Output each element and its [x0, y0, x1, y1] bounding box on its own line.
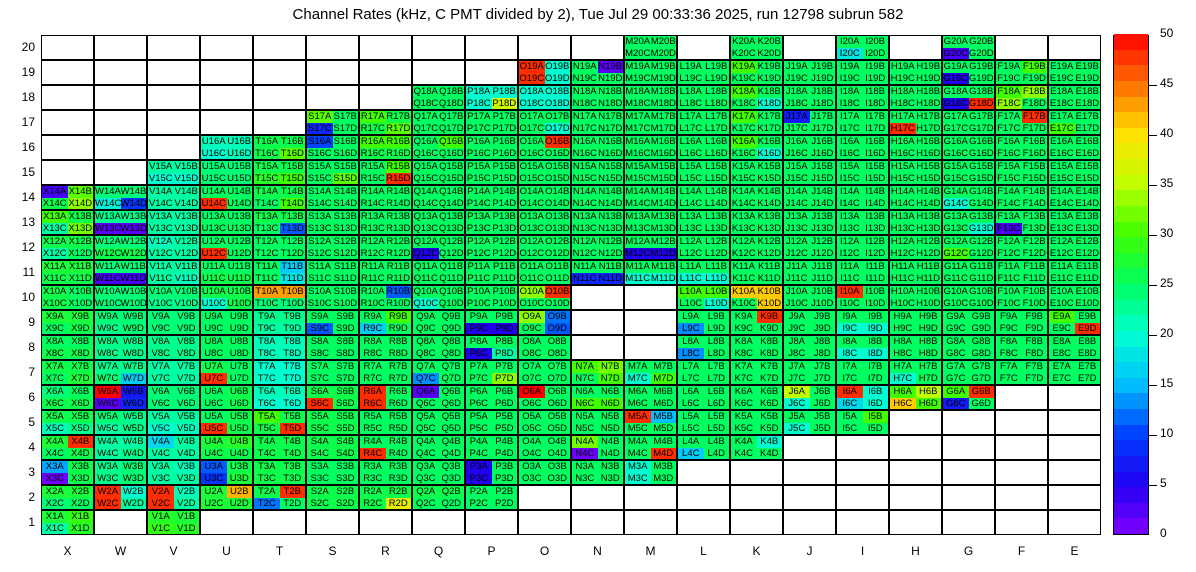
channel-Q4B: Q4B [439, 436, 465, 448]
channel-O17A: O17A [519, 111, 545, 123]
module-cell-empty [730, 460, 783, 485]
channel-Q5C: Q5C [413, 423, 439, 435]
module-cell: T13AT13BT13CT13D [253, 210, 306, 235]
channel-N17A: N17A [572, 111, 598, 123]
channel-T13C: T13C [254, 223, 280, 235]
channel-F9D: F9D [1022, 323, 1048, 335]
channel-R5B: R5B [386, 411, 412, 423]
channel-M18B: M18B [651, 86, 677, 98]
channel-K12B: K12B [757, 236, 783, 248]
channel-S14D: S14D [333, 198, 359, 210]
channel-P18A: P18A [466, 86, 492, 98]
module-cell-empty [836, 460, 889, 485]
channel-T3D: T3D [280, 473, 306, 485]
channel-K8D: K8D [757, 348, 783, 360]
channel-M3A: M3A [625, 461, 651, 473]
channel-K11B: K11B [757, 261, 783, 273]
channel-J9D: J9D [810, 323, 836, 335]
channel-R11D: R11D [386, 273, 412, 285]
module-cell: E8AE8BE8CE8D [1048, 335, 1101, 360]
channel-V9D: V9D [174, 323, 200, 335]
module-cell: M12AM12BM12CM12D [624, 235, 677, 260]
channel-H13B: H13B [916, 211, 942, 223]
module-cell: S2AS2BS2CS2D [306, 485, 359, 510]
channel-P5B: P5B [492, 411, 518, 423]
module-cell-empty [942, 435, 995, 460]
channel-V8B: V8B [174, 336, 200, 348]
channel-V10B: V10B [174, 286, 200, 298]
module-cell: F8AF8BF8CF8D [995, 335, 1048, 360]
channel-P2A: P2A [466, 486, 492, 498]
channel-P7D: P7D [492, 373, 518, 385]
channel-G18D: G18D [969, 98, 995, 110]
module-cell: F16AF16BF16CF16D [995, 135, 1048, 160]
module-cell: I13AI13BI13CI13D [836, 210, 889, 235]
channel-L17A: L17A [678, 111, 704, 123]
channel-L16D: L16D [704, 148, 730, 160]
y-axis-label: 7 [5, 365, 35, 379]
channel-M12C: M12C [625, 248, 651, 260]
channel-L9A: L9A [678, 311, 704, 323]
channel-M18D: M18D [651, 98, 677, 110]
module-cell: H17AH17BH17CH17D [889, 110, 942, 135]
channel-V9A: V9A [148, 311, 174, 323]
module-cell: N5AN5BN5CN5D [571, 410, 624, 435]
channel-E14C: E14C [1049, 198, 1075, 210]
channel-O12C: O12C [519, 248, 545, 260]
module-cell: N11AN11BN11CN11D [571, 260, 624, 285]
x-axis-label: H [889, 544, 942, 558]
channel-W12B: W12B [121, 236, 147, 248]
channel-V7B: V7B [174, 361, 200, 373]
channel-V11D: V11D [174, 273, 200, 285]
channel-T7C: T7C [254, 373, 280, 385]
channel-V1D: V1D [174, 523, 200, 535]
channel-K7A: K7A [731, 361, 757, 373]
module-cell: F19AF19BF19CF19D [995, 60, 1048, 85]
channel-J6C: J6C [784, 398, 810, 410]
channel-P6C: P6C [466, 398, 492, 410]
channel-I14A: I14A [837, 186, 863, 198]
module-cell-empty [942, 410, 995, 435]
module-cell: M14AM14BM14CM14D [624, 185, 677, 210]
channel-V1A: V1A [148, 511, 174, 523]
channel-T12D: T12D [280, 248, 306, 260]
channel-P17C: P17C [466, 123, 492, 135]
channel-U4B: U4B [227, 436, 253, 448]
channel-V10D: V10D [174, 298, 200, 310]
channel-S6D: S6D [333, 398, 359, 410]
channel-H11C: H11C [890, 273, 916, 285]
module-cell: E7AE7BE7CE7D [1048, 360, 1101, 385]
module-cell-empty [889, 510, 942, 535]
module-cell: L8AL8BL8CL8D [677, 335, 730, 360]
channel-U15A: U15A [201, 161, 227, 173]
channel-W8B: W8B [121, 336, 147, 348]
channel-K17B: K17B [757, 111, 783, 123]
channel-X2C: X2C [42, 498, 68, 510]
channel-J6B: J6B [810, 386, 836, 398]
channel-T2C: T2C [254, 498, 280, 510]
channel-N5C: N5C [572, 423, 598, 435]
module-cell: R16AR16BR16CR16D [359, 135, 412, 160]
channel-H10B: H10B [916, 286, 942, 298]
y-axis-label: 11 [5, 265, 35, 279]
channel-Q6C: Q6C [413, 398, 439, 410]
module-cell-empty [571, 310, 624, 335]
module-cell: I18AI18BI18CI18D [836, 85, 889, 110]
channel-M13A: M13A [625, 211, 651, 223]
channel-M19A: M19A [625, 61, 651, 73]
module-cell: U3AU3BU3CU3D [200, 460, 253, 485]
channel-F14D: F14D [1022, 198, 1048, 210]
channel-O8A: O8A [519, 336, 545, 348]
channel-N16B: N16B [598, 136, 624, 148]
channel-T5B: T5B [280, 411, 306, 423]
channel-M14C: M14C [625, 198, 651, 210]
channel-Q18D: Q18D [439, 98, 465, 110]
module-cell: O5AO5BO5CO5D [518, 410, 571, 435]
channel-J16D: J16D [810, 148, 836, 160]
module-cell-empty [465, 60, 518, 85]
channel-T4D: T4D [280, 448, 306, 460]
channel-Q16A: Q16A [413, 136, 439, 148]
channel-S16A: S16A [307, 136, 333, 148]
channel-X2B: X2B [68, 486, 94, 498]
module-cell-empty [677, 485, 730, 510]
module-cell: I9AI9BI9CI9D [836, 310, 889, 335]
channel-X5A: X5A [42, 411, 68, 423]
module-cell-empty [94, 135, 147, 160]
channel-S4A: S4A [307, 436, 333, 448]
channel-M5A: M5A [625, 411, 651, 423]
channel-T4C: T4C [254, 448, 280, 460]
module-cell-empty [41, 35, 94, 60]
channel-E14A: E14A [1049, 186, 1075, 198]
channel-E15C: E15C [1049, 173, 1075, 185]
channel-V10A: V10A [148, 286, 174, 298]
module-cell-empty [412, 35, 465, 60]
channel-I16A: I16A [837, 136, 863, 148]
module-cell: W13AW13BW13CW13D [94, 210, 147, 235]
channel-I10A: I10A [837, 286, 863, 298]
channel-M18C: M18C [625, 98, 651, 110]
channel-I18B: I18B [863, 86, 889, 98]
channel-P18B: P18B [492, 86, 518, 98]
channel-X7D: X7D [68, 373, 94, 385]
channel-F18D: F18D [1022, 98, 1048, 110]
module-cell: I20AI20BI20CI20D [836, 35, 889, 60]
channel-O3A: O3A [519, 461, 545, 473]
channel-I8D: I8D [863, 348, 889, 360]
channel-G10B: G10B [969, 286, 995, 298]
x-axis-label: Q [412, 544, 465, 558]
channel-H19B: H19B [916, 61, 942, 73]
module-cell: X2AX2BX2CX2D [41, 485, 94, 510]
channel-I17D: I17D [863, 123, 889, 135]
channel-N12B: N12B [598, 236, 624, 248]
channel-K15C: K15C [731, 173, 757, 185]
channel-R15B: R15B [386, 161, 412, 173]
channel-W14D: W14D [121, 198, 147, 210]
page-title: Channel Rates (kHz, C PMT divided by 2),… [0, 6, 1196, 23]
channel-R12A: R12A [360, 236, 386, 248]
channel-X1D: X1D [68, 523, 94, 535]
channel-J17C: J17C [784, 123, 810, 135]
module-cell: T8AT8BT8CT8D [253, 335, 306, 360]
channel-L7A: L7A [678, 361, 704, 373]
channel-O12D: O12D [545, 248, 571, 260]
channel-T3B: T3B [280, 461, 306, 473]
channel-F9A: F9A [996, 311, 1022, 323]
channel-U13C: U13C [201, 223, 227, 235]
channel-H11A: H11A [890, 261, 916, 273]
channel-N11D: N11D [598, 273, 624, 285]
channel-K18A: K18A [731, 86, 757, 98]
channel-V6D: V6D [174, 398, 200, 410]
module-cell: R5AR5BR5CR5D [359, 410, 412, 435]
channel-K11A: K11A [731, 261, 757, 273]
module-cell: K12AK12BK12CK12D [730, 235, 783, 260]
channel-J13D: J13D [810, 223, 836, 235]
module-cell: Q7AQ7BQ7CQ7D [412, 360, 465, 385]
y-axis-label: 17 [5, 115, 35, 129]
channel-Q7A: Q7A [413, 361, 439, 373]
module-cell: J7AJ7BJ7CJ7D [783, 360, 836, 385]
channel-F8B: F8B [1022, 336, 1048, 348]
channel-O3B: O3B [545, 461, 571, 473]
channel-I6C: I6C [837, 398, 863, 410]
channel-L10D: L10D [704, 298, 730, 310]
channel-E8D: E8D [1075, 348, 1101, 360]
channel-O17C: O17C [519, 123, 545, 135]
channel-K13B: K13B [757, 211, 783, 223]
module-cell: H13AH13BH13CH13D [889, 210, 942, 235]
channel-P3C: P3C [466, 473, 492, 485]
channel-M15D: M15D [651, 173, 677, 185]
channel-S3D: S3D [333, 473, 359, 485]
channel-J13B: J13B [810, 211, 836, 223]
module-cell: M3AM3BM3CM3D [624, 460, 677, 485]
channel-R9A: R9A [360, 311, 386, 323]
channel-U12B: U12B [227, 236, 253, 248]
y-axis-label: 20 [5, 40, 35, 54]
module-cell: V7AV7BV7CV7D [147, 360, 200, 385]
module-cell: L4AL4BL4CL4D [677, 435, 730, 460]
channel-R6D: R6D [386, 398, 412, 410]
channel-H12D: H12D [916, 248, 942, 260]
channel-L14C: L14C [678, 198, 704, 210]
channel-M6B: M6B [651, 386, 677, 398]
channel-L5C: L5C [678, 423, 704, 435]
channel-X8A: X8A [42, 336, 68, 348]
channel-O9C: O9C [519, 323, 545, 335]
module-cell-empty [1048, 485, 1101, 510]
channel-O6A: O6A [519, 386, 545, 398]
channel-N3C: N3C [572, 473, 598, 485]
channel-T11C: T11C [254, 273, 280, 285]
channel-U4C: U4C [201, 448, 227, 460]
channel-F17D: F17D [1022, 123, 1048, 135]
channel-K18B: K18B [757, 86, 783, 98]
module-cell: W4AW4BW4CW4D [94, 435, 147, 460]
channel-S13A: S13A [307, 211, 333, 223]
channel-F19B: F19B [1022, 61, 1048, 73]
channel-N4D: N4D [598, 448, 624, 460]
channel-F13C: F13C [996, 223, 1022, 235]
channel-G13B: G13B [969, 211, 995, 223]
channel-V5A: V5A [148, 411, 174, 423]
module-cell: U7AU7BU7CU7D [200, 360, 253, 385]
channel-Q11A: Q11A [413, 261, 439, 273]
channel-N14A: N14A [572, 186, 598, 198]
module-cell-empty [147, 35, 200, 60]
channel-L13D: L13D [704, 223, 730, 235]
channel-H19A: H19A [890, 61, 916, 73]
channel-W4D: W4D [121, 448, 147, 460]
channel-G17C: G17C [943, 123, 969, 135]
channel-Q4C: Q4C [413, 448, 439, 460]
channel-O18B: O18B [545, 86, 571, 98]
module-cell: V15AV15BV15CV15D [147, 160, 200, 185]
channel-U3A: U3A [201, 461, 227, 473]
channel-X14C: X14C [42, 198, 68, 210]
module-cell-empty [995, 410, 1048, 435]
module-cell: L13AL13BL13CL13D [677, 210, 730, 235]
module-cell: H6AH6BH6CH6D [889, 385, 942, 410]
module-cell: V1AV1BV1CV1D [147, 510, 200, 535]
channel-M20D: M20D [651, 48, 677, 60]
channel-P4A: P4A [466, 436, 492, 448]
channel-R7C: R7C [360, 373, 386, 385]
module-cell: H9AH9BH9CH9D [889, 310, 942, 335]
channel-L19A: L19A [678, 61, 704, 73]
channel-K13A: K13A [731, 211, 757, 223]
colorbar-tick-label: 30 [1160, 226, 1173, 240]
module-cell: Q6AQ6BQ6CQ6D [412, 385, 465, 410]
channel-K11D: K11D [757, 273, 783, 285]
channel-M20C: M20C [625, 48, 651, 60]
channel-I20B: I20B [863, 36, 889, 48]
channel-G17D: G17D [969, 123, 995, 135]
channel-M13C: M13C [625, 223, 651, 235]
channel-Q15D: Q15D [439, 173, 465, 185]
channel-U11C: U11C [201, 273, 227, 285]
channel-N15A: N15A [572, 161, 598, 173]
channel-S17B: S17B [333, 111, 359, 123]
channel-T13D: T13D [280, 223, 306, 235]
channel-G15D: G15D [969, 173, 995, 185]
channel-S17D: S17D [333, 123, 359, 135]
module-cell-empty [412, 510, 465, 535]
channel-J13A: J13A [784, 211, 810, 223]
module-cell-empty [306, 85, 359, 110]
channel-O11C: O11C [519, 273, 545, 285]
channel-H16A: H16A [890, 136, 916, 148]
channel-I19A: I19A [837, 61, 863, 73]
y-axis-label: 6 [5, 390, 35, 404]
channel-U12D: U12D [227, 248, 253, 260]
channel-Q9D: Q9D [439, 323, 465, 335]
channel-K8A: K8A [731, 336, 757, 348]
channel-P11A: P11A [466, 261, 492, 273]
channel-V13D: V13D [174, 223, 200, 235]
module-cell: W8AW8BW8CW8D [94, 335, 147, 360]
channel-K6B: K6B [757, 386, 783, 398]
channel-F7B: F7B [1022, 361, 1048, 373]
channel-X9B: X9B [68, 311, 94, 323]
channel-U2A: U2A [201, 486, 227, 498]
channel-T16C: T16C [254, 148, 280, 160]
channel-H17D: H17D [916, 123, 942, 135]
channel-O13D: O13D [545, 223, 571, 235]
channel-X3C: X3C [42, 473, 68, 485]
module-cell: S11AS11BS11CS11D [306, 260, 359, 285]
channel-L6B: L6B [704, 386, 730, 398]
module-cell: X6AX6BX6CX6D [41, 385, 94, 410]
module-cell: S15AS15BS15CS15D [306, 160, 359, 185]
channel-E7C: E7C [1049, 373, 1075, 385]
channel-P2B: P2B [492, 486, 518, 498]
channel-H8C: H8C [890, 348, 916, 360]
channel-J19B: J19B [810, 61, 836, 73]
channel-N11A: N11A [572, 261, 598, 273]
module-cell: Q14AQ14BQ14CQ14D [412, 185, 465, 210]
channel-V4B: V4B [174, 436, 200, 448]
channel-H6C: H6C [890, 398, 916, 410]
channel-J11C: J11C [784, 273, 810, 285]
channel-P12D: P12D [492, 248, 518, 260]
channel-V12A: V12A [148, 236, 174, 248]
channel-H19D: H19D [916, 73, 942, 85]
colorbar-tick [1149, 435, 1157, 436]
channel-X5B: X5B [68, 411, 94, 423]
channel-U8C: U8C [201, 348, 227, 360]
colorbar-tick-label: 45 [1160, 76, 1173, 90]
module-cell: W5AW5BW5CW5D [94, 410, 147, 435]
channel-E8B: E8B [1075, 336, 1101, 348]
channel-O5A: O5A [519, 411, 545, 423]
channel-L5D: L5D [704, 423, 730, 435]
channel-Q15A: Q15A [413, 161, 439, 173]
channel-L12B: L12B [704, 236, 730, 248]
channel-G6C: G6C [943, 398, 969, 410]
channel-G14B: G14B [969, 186, 995, 198]
channel-E18C: E18C [1049, 98, 1075, 110]
channel-G19B: G19B [969, 61, 995, 73]
module-cell: P18AP18BP18CP18D [465, 85, 518, 110]
channel-H17C: H17C [890, 123, 916, 135]
channel-M11B: M11B [651, 261, 677, 273]
module-cell: H19AH19BH19CH19D [889, 60, 942, 85]
module-cell: J10AJ10BJ10CJ10D [783, 285, 836, 310]
channel-X12D: X12D [68, 248, 94, 260]
channel-F17B: F17B [1022, 111, 1048, 123]
colorbar-band [1114, 409, 1148, 425]
module-cell: W2AW2BW2CW2D [94, 485, 147, 510]
channel-X10A: X10A [42, 286, 68, 298]
module-cell: P10AP10BP10CP10D [465, 285, 518, 310]
colorbar-band [1114, 97, 1148, 113]
channel-X12B: X12B [68, 236, 94, 248]
channel-E7A: E7A [1049, 361, 1075, 373]
channel-L19C: L19C [678, 73, 704, 85]
channel-W11A: W11A [95, 261, 121, 273]
colorbar-band [1114, 393, 1148, 409]
x-axis-label: S [306, 544, 359, 558]
channel-Q13A: Q13A [413, 211, 439, 223]
module-cell-empty [41, 60, 94, 85]
